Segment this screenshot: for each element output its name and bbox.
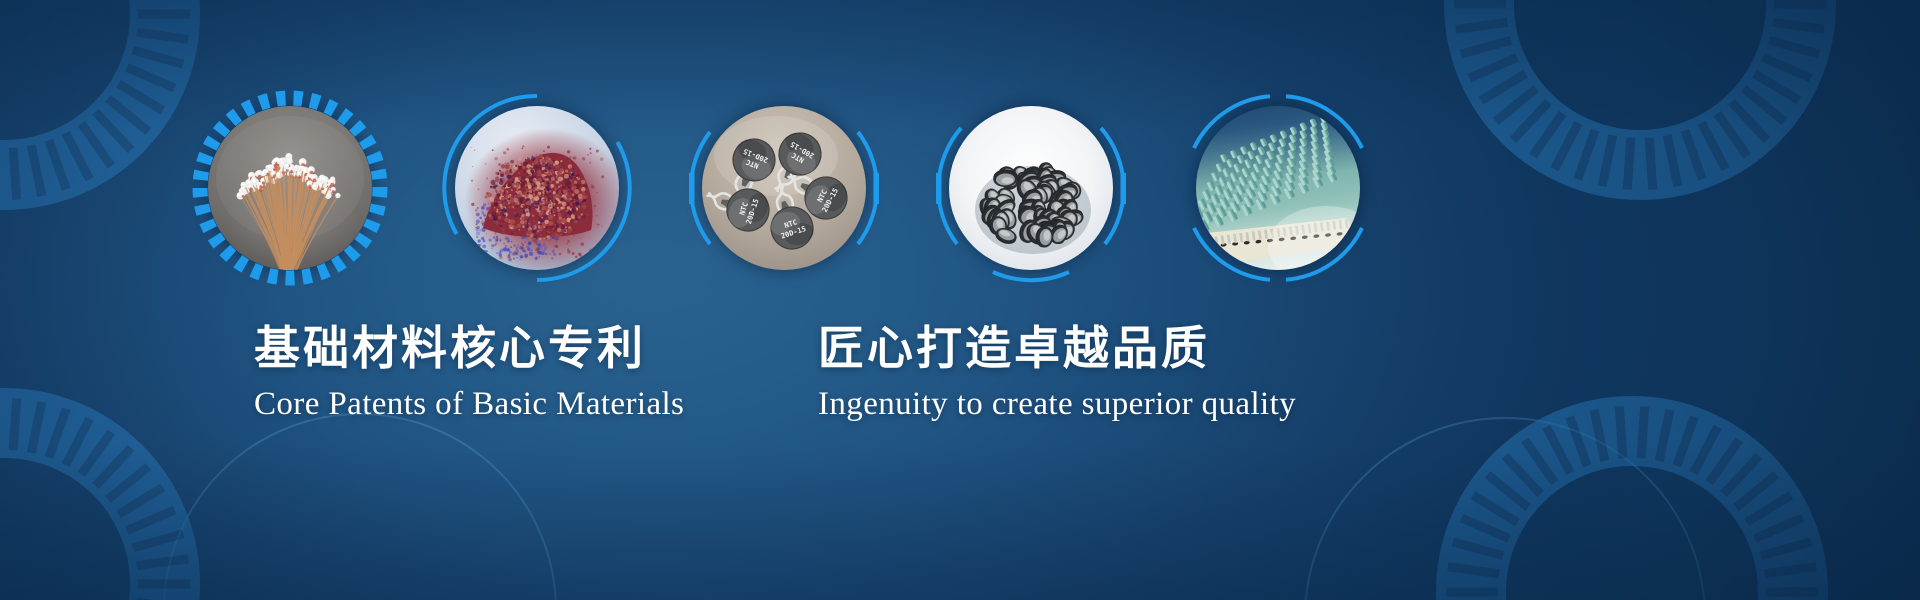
lead-wire-illustration	[208, 106, 372, 270]
headline-block-right: 匠心打造卓越品质 Ingenuity to create superior qu…	[818, 322, 1296, 425]
photo-coated-component-rows	[1196, 106, 1360, 270]
medallion-coated-component-rows[interactable]	[1178, 88, 1378, 288]
headline-left-chinese: 基础材料核心专利	[254, 322, 684, 376]
varistor-disc-illustration	[949, 106, 1113, 270]
medallion-varistor-ceramic-discs[interactable]	[931, 88, 1131, 288]
coated-component-illustration	[1196, 106, 1360, 270]
headline-right-chinese: 匠心打造卓越品质	[818, 322, 1296, 376]
powder-illustration	[455, 106, 619, 270]
headline-left-english: Core Patents of Basic Materials	[254, 385, 684, 425]
medallion-ntc-thermistor-discs[interactable]: NTC20D-15NTC20D-15NTC20D-15NTC20D-15NTC2…	[684, 88, 884, 288]
ntc-thermistor-illustration: NTC20D-15NTC20D-15NTC20D-15NTC20D-15NTC2…	[702, 106, 866, 270]
photo-ntc-thermistor-discs: NTC20D-15NTC20D-15NTC20D-15NTC20D-15NTC2…	[702, 106, 866, 270]
promo-banner: NTC20D-15NTC20D-15NTC20D-15NTC20D-15NTC2…	[0, 0, 1920, 600]
headline-right-english: Ingenuity to create superior quality	[818, 385, 1296, 425]
medallion-row: NTC20D-15NTC20D-15NTC20D-15NTC20D-15NTC2…	[0, 88, 1920, 292]
photo-varistor-ceramic-discs	[949, 106, 1113, 270]
photo-raw-powder-material	[455, 106, 619, 270]
medallion-raw-powder-material[interactable]	[437, 88, 637, 288]
photo-lead-wire-assembly	[208, 106, 372, 270]
headline-block-left: 基础材料核心专利 Core Patents of Basic Materials	[254, 322, 684, 425]
medallion-lead-wire-assembly[interactable]	[190, 88, 390, 288]
